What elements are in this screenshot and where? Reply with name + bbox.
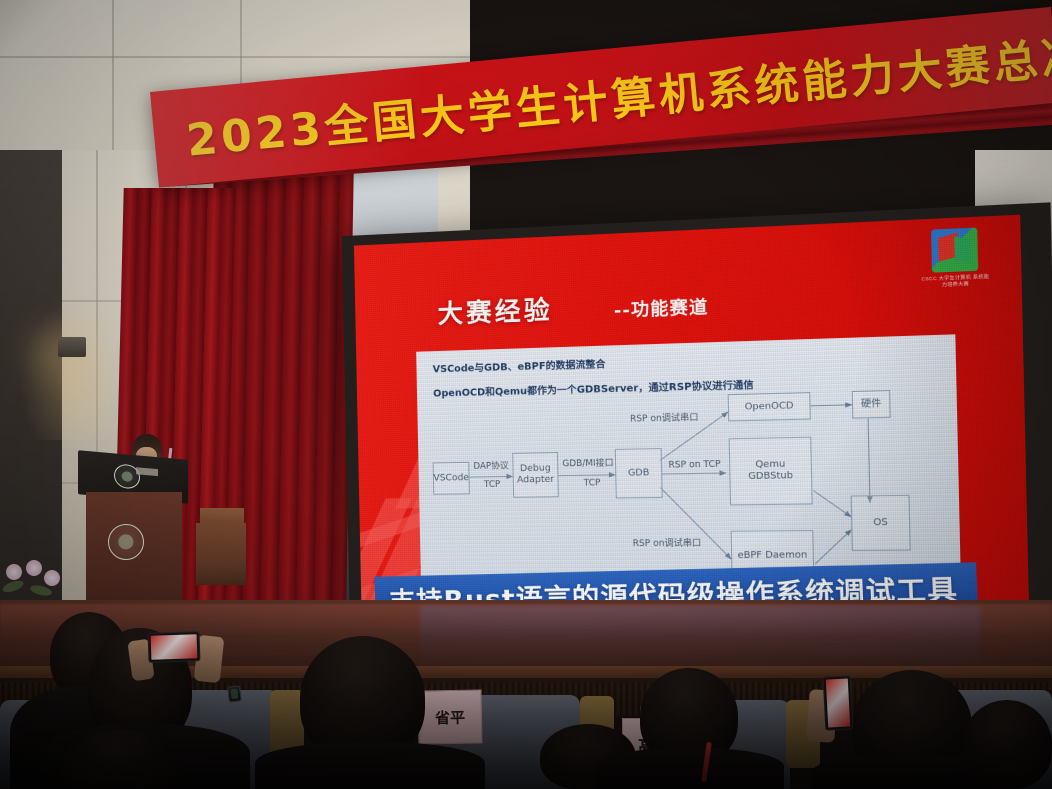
audience-shoulders: [255, 742, 485, 789]
university-emblem-icon: [108, 524, 144, 560]
slide-content-panel: VSCode与GDB、eBPF的数据流整合 OpenOCD和Qemu都作为一个G…: [416, 334, 961, 599]
camera-device: [147, 631, 200, 663]
diagram-node-qemu: Qemu GDBStub: [729, 437, 813, 506]
led-screen: CSCC 大学生计算机 系统能力培养大赛 大赛经验 --功能赛道 VSCode与…: [342, 202, 1052, 645]
presentation-slide: CSCC 大学生计算机 系统能力培养大赛 大赛经验 --功能赛道 VSCode与…: [354, 215, 1030, 632]
cube-logo-icon: [931, 228, 978, 273]
slide-subtitle: --功能赛道: [614, 292, 709, 322]
side-table: [196, 523, 246, 585]
ceiling-seam: [112, 0, 114, 150]
edge-label-dap-tcp: TCP: [484, 480, 500, 490]
edge-label-rsp-serial-top: RSP on调试串口: [630, 411, 699, 425]
seat-placard: 省平: [418, 689, 483, 744]
phone-device: [823, 675, 854, 730]
logo-caption: CSCC 大学生计算机 系统能力培养大赛: [920, 274, 992, 289]
diagram-node-os: OS: [851, 495, 911, 551]
diagram-node-debug-adapter: Debug Adapter: [512, 452, 559, 498]
phone-screen: [826, 678, 850, 727]
ceiling-seam: [0, 56, 470, 58]
edge-label-gdbmi: GDB/MI接口: [562, 456, 614, 469]
competition-logo: CSCC 大学生计算机 系统能力培养大赛: [918, 227, 991, 288]
stage-reflection-blue: [420, 606, 980, 670]
camera-screen: [151, 634, 198, 660]
edge-label-gdbmi-tcp: TCP: [584, 478, 601, 489]
wall-lamp: [58, 337, 86, 357]
audience-shoulders: [596, 748, 784, 789]
edge-label-dap: DAP协议: [473, 459, 509, 472]
diagram-node-gdb: GDB: [615, 448, 663, 499]
conference-photo: 2023全国大学生计算机系统能力大赛总决赛颁奖典 CSCC 大学生计算机 系统能…: [0, 0, 1052, 789]
edge-label-rsp-serial-bottom: RSP on调试串口: [633, 536, 702, 549]
diagram-node-openocd: OpenOCD: [728, 392, 811, 421]
smartwatch: [227, 685, 242, 702]
edge-label-rsp-tcp: RSP on TCP: [668, 459, 720, 470]
flower-arrangement: [0, 560, 80, 620]
diagram-node-hardware: 硬件: [852, 390, 891, 419]
wall-lamp-glow: [20, 300, 110, 440]
diagram-node-vscode: VSCode: [433, 462, 470, 495]
audience-head: [962, 700, 1052, 789]
slide-title: 大赛经验: [437, 290, 553, 331]
